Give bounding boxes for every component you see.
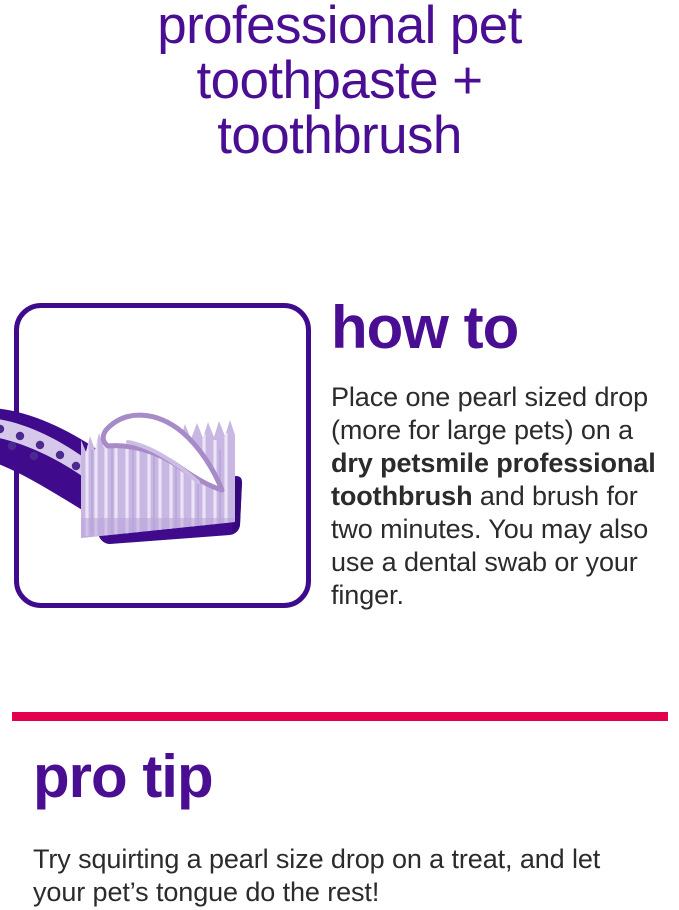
title-line-3: toothbrush — [0, 108, 679, 163]
product-infographic-page: { "colors": { "purple": "#4a0e93", "purp… — [0, 0, 679, 910]
title-line-1: professional pet — [0, 0, 679, 53]
howto-body-part-1: Place one pearl sized drop (more for lar… — [331, 382, 648, 445]
howto-section: how to Place one pearl sized drop (more … — [331, 297, 661, 612]
page-title: professional pet toothpaste + toothbrush — [0, 0, 679, 163]
howto-body: Place one pearl sized drop (more for lar… — [331, 381, 661, 612]
protip-body: Try squirting a pearl size drop on a tre… — [33, 843, 653, 909]
illustration-frame — [14, 303, 311, 608]
howto-heading: how to — [331, 297, 661, 359]
title-line-2: toothpaste + — [0, 53, 679, 108]
section-divider-rule — [12, 712, 668, 721]
protip-heading: pro tip — [33, 746, 213, 808]
